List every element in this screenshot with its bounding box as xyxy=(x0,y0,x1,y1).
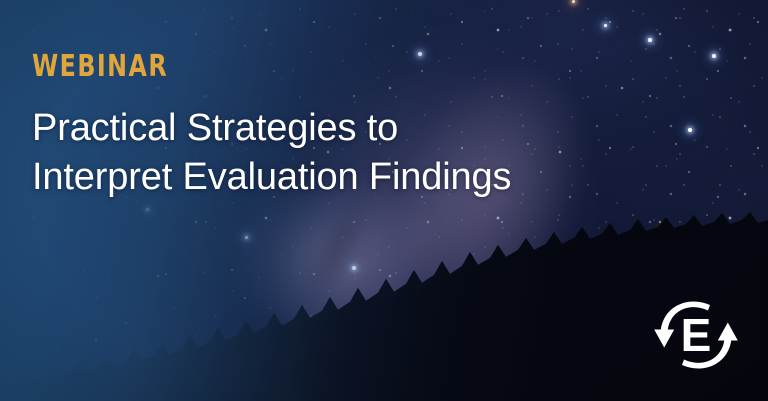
headline-line-1: Practical Strategies to xyxy=(32,104,692,153)
banner-content: WEBINAR Practical Strategies to Interpre… xyxy=(32,52,692,201)
eyebrow-label: WEBINAR xyxy=(32,52,613,82)
headline-line-2: Interpret Evaluation Findings xyxy=(32,153,692,202)
logo-letter: E xyxy=(681,309,712,361)
brand-logo[interactable]: E xyxy=(648,291,744,379)
webinar-banner: WEBINAR Practical Strategies to Interpre… xyxy=(0,0,768,401)
page-title: Practical Strategies to Interpret Evalua… xyxy=(32,104,692,201)
